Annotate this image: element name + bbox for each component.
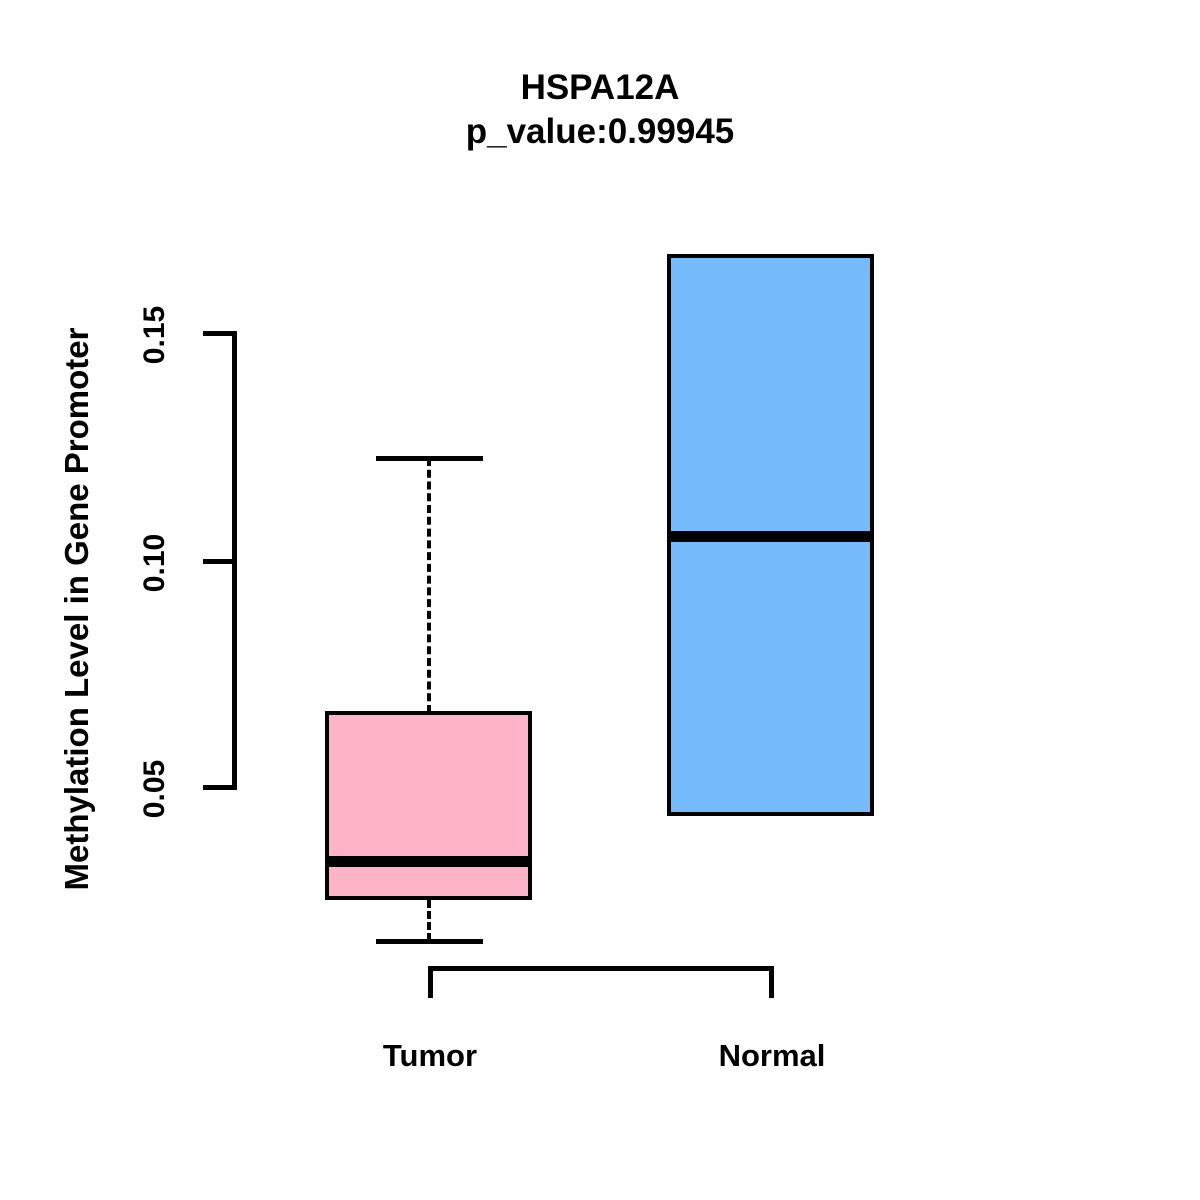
tumor-median-line (325, 856, 532, 867)
x-axis-bracket-left-tick (428, 966, 433, 998)
chart-subtitle-pvalue: p_value:0.99945 (0, 110, 1200, 154)
tumor-upper-whisker (427, 458, 431, 713)
x-axis-bracket-right-tick (769, 966, 774, 998)
page-title: HSPA12A (0, 66, 1200, 110)
y-axis-tick-label-010: 0.10 (138, 518, 172, 608)
x-axis-bracket-top (428, 966, 774, 971)
y-axis-tick-label-015: 0.15 (138, 290, 172, 380)
y-axis-tick-010 (203, 559, 235, 564)
tumor-lower-whisker-cap (376, 939, 483, 944)
tumor-upper-whisker-cap (376, 456, 483, 461)
y-axis-tick-005 (203, 785, 235, 790)
y-axis-tick-015 (203, 331, 235, 336)
boxplot-figure: HSPA12A p_value:0.99945 Methylation Leve… (0, 0, 1200, 1200)
x-axis-label-tumor: Tumor (330, 1038, 530, 1074)
x-axis-label-normal: Normal (672, 1038, 872, 1074)
tumor-lower-whisker (427, 900, 431, 941)
chart-title-block: HSPA12A p_value:0.99945 (0, 66, 1200, 154)
y-axis-tick-label-005: 0.05 (138, 744, 172, 834)
y-axis-title: Methylation Level in Gene Promoter (58, 199, 96, 1019)
tumor-box (325, 711, 532, 900)
normal-median-line (667, 531, 874, 542)
